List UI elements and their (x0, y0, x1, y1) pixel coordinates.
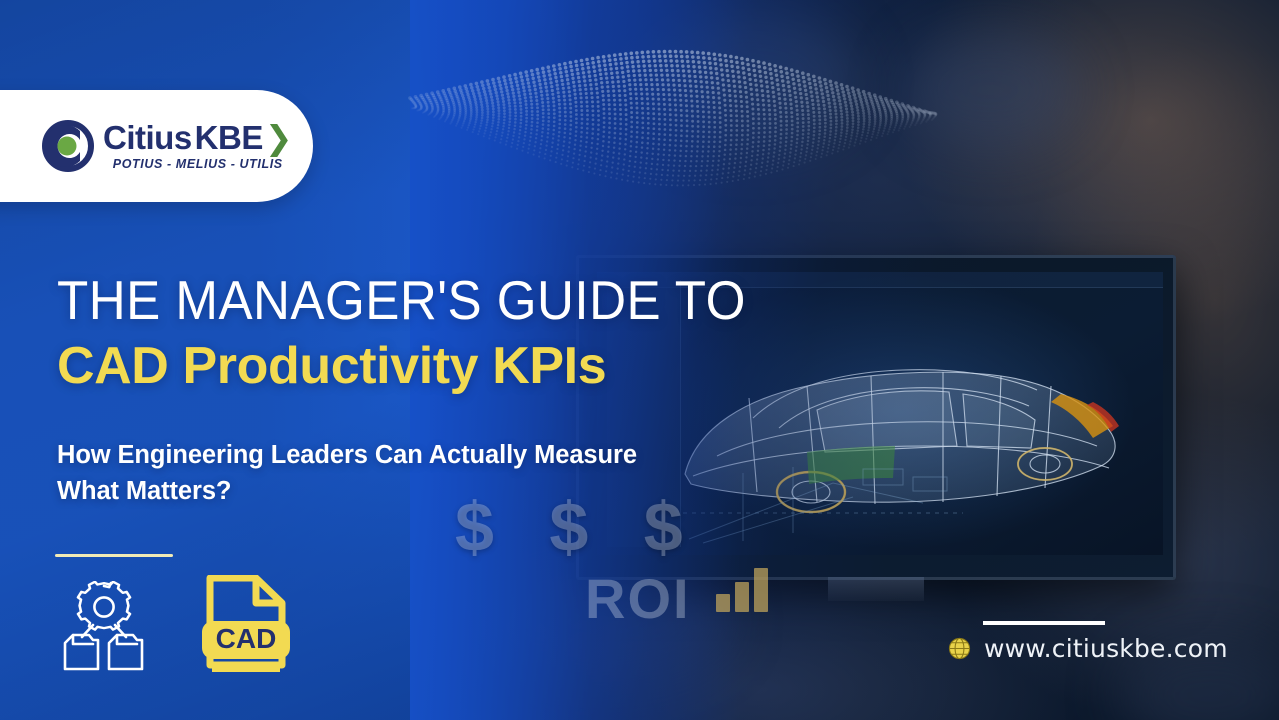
globe-icon (948, 637, 971, 660)
headline-line-2: CAD Productivity KPIs (57, 340, 606, 392)
roi-bar-chart (716, 560, 786, 612)
logo-chevron-icon: ❯ (265, 123, 293, 153)
cad-file-icon: CAD (200, 575, 292, 673)
citiuskbe-mark-icon (42, 120, 94, 172)
brand-logo[interactable]: Citius KBE ❯ POTIUS - MELIUS - UTILIS (0, 90, 313, 202)
logo-tagline: POTIUS - MELIUS - UTILIS (103, 158, 293, 171)
poster-canvas: $ $ $ ROI Citius KBE ❯ POTIUS - MELIUS -… (0, 0, 1279, 720)
particle-swirl-graphic (390, 0, 950, 240)
subheadline: How Engineering Leaders Can Actually Mea… (57, 437, 657, 509)
url-accent-rule (983, 621, 1105, 625)
url-text: www.citiuskbe.com (984, 634, 1228, 663)
logo-name-citius: Citius (103, 121, 192, 154)
cad-file-label: CAD (216, 623, 277, 654)
roi-watermark: ROI (585, 566, 691, 631)
logo-name-kbe: KBE (195, 121, 263, 154)
gear-folders-icon (52, 581, 156, 673)
headline-line-1: THE MANAGER'S GUIDE TO (57, 273, 746, 328)
accent-divider (55, 554, 173, 557)
website-url[interactable]: www.citiuskbe.com (948, 634, 1228, 663)
feature-icon-row: CAD (52, 575, 292, 673)
